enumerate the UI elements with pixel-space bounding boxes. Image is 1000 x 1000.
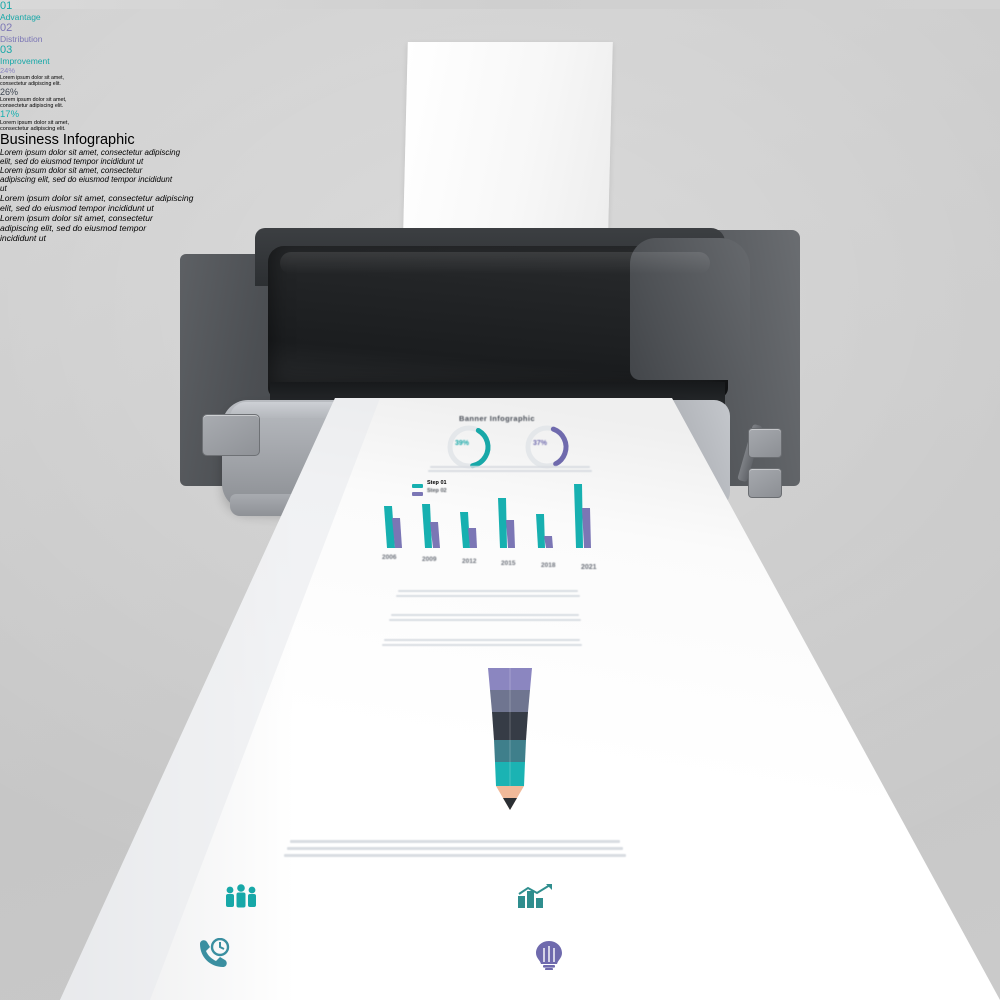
poster-canvas: Banner Infographic 39% 37% Step 01 Step …	[0, 0, 1000, 1000]
printed-page	[0, 0, 1000, 1000]
